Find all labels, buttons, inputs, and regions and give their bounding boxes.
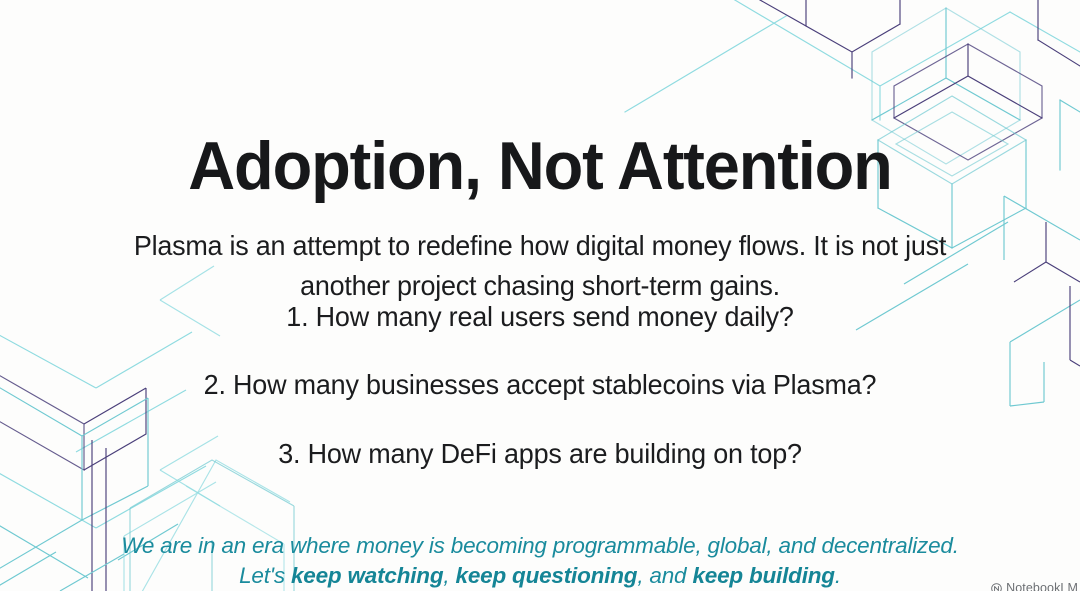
questions-list: 1. How many real users send money daily?… xyxy=(40,300,1040,471)
subtitle-text: Plasma is an attempt to redefine how dig… xyxy=(99,226,981,306)
watermark: NotebookLM xyxy=(991,581,1078,591)
notebooklm-logo-icon xyxy=(991,583,1002,591)
page-title: Adoption, Not Attention xyxy=(24,132,1055,200)
watermark-label: NotebookLM xyxy=(1006,581,1078,591)
closing-statement: We are in an era where money is becoming… xyxy=(100,531,980,591)
presentation-slide: Adoption, Not Attention Plasma is an att… xyxy=(0,0,1080,591)
closing-emphasis-keep-questioning: keep questioning xyxy=(456,563,638,588)
closing-part-2: , xyxy=(443,563,455,588)
list-item: 1. How many real users send money daily? xyxy=(50,300,1030,334)
list-item: 2. How many businesses accept stablecoin… xyxy=(50,368,1030,402)
closing-part-3: , and xyxy=(637,563,692,588)
closing-emphasis-keep-watching: keep watching xyxy=(291,563,443,588)
closing-part-4: . xyxy=(835,563,841,588)
list-item: 3. How many DeFi apps are building on to… xyxy=(50,437,1030,471)
closing-emphasis-keep-building: keep building xyxy=(692,563,834,588)
slide-content: Adoption, Not Attention Plasma is an att… xyxy=(0,0,1080,591)
